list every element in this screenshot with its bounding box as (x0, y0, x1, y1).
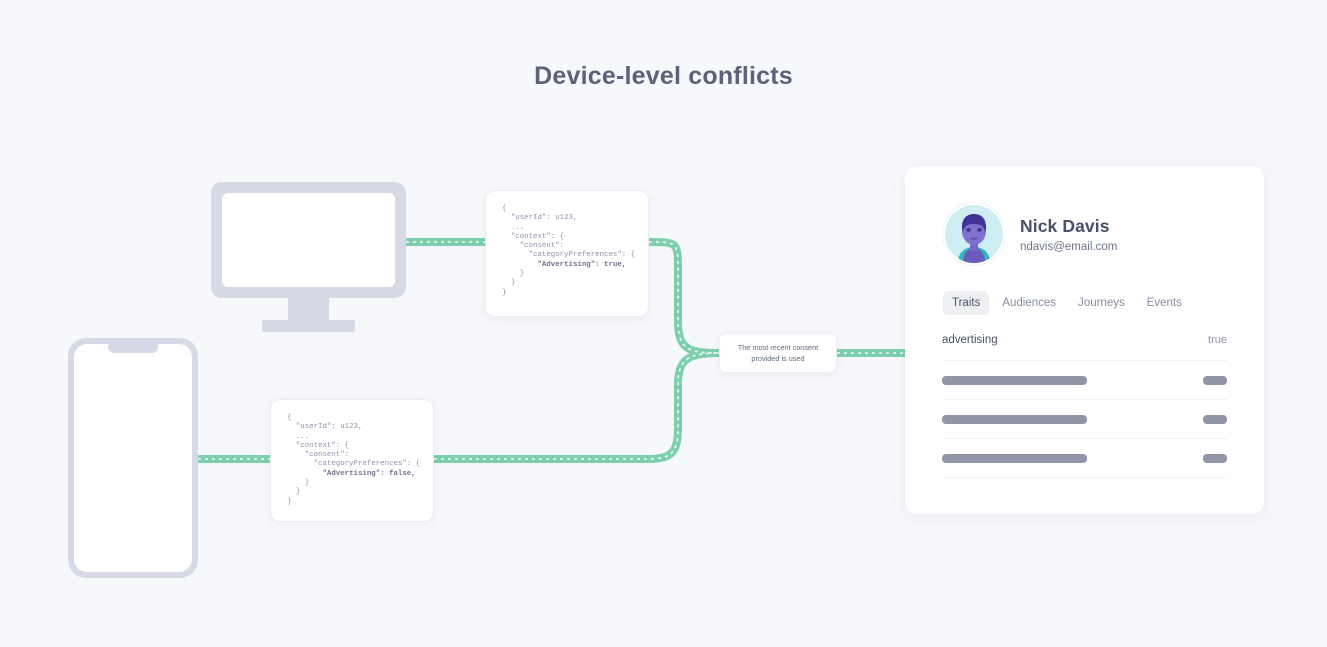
trait-key-placeholder (942, 376, 1087, 385)
code-line-6-highlight: "Advertising": false, (287, 470, 416, 478)
trait-value: true (1208, 334, 1227, 346)
user-avatar-illustration (945, 205, 1003, 263)
phone-notch (108, 344, 158, 353)
center-note-line-2: provided is used (738, 353, 818, 364)
code-line-1: "userId": u123, (287, 423, 362, 431)
desktop-payload-code: { "userId": u123, ... "context": { "cons… (502, 205, 632, 298)
trait-value-placeholder (1203, 454, 1227, 463)
code-line-2: ... (287, 433, 309, 441)
monitor-stand-neck (288, 298, 329, 320)
code-line-0: { (502, 205, 506, 213)
tab-journeys[interactable]: Journeys (1069, 291, 1134, 315)
code-line-9: } (287, 498, 291, 506)
profile-header: Nick Davis ndavis@email.com (943, 203, 1117, 265)
diagram-canvas: Device-level conflicts (0, 0, 1327, 647)
monitor-stand-base (262, 320, 355, 332)
phone-screen (74, 344, 192, 572)
mobile-payload-code: { "userId": u123, ... "context": { "cons… (287, 414, 417, 507)
code-line-0: { (287, 414, 291, 422)
code-line-1: "userId": u123, (502, 214, 577, 222)
table-row (942, 361, 1227, 400)
trait-key-placeholder (942, 454, 1087, 463)
trait-key-placeholder (942, 415, 1087, 424)
monitor-screen (222, 193, 395, 287)
code-line-5: "categoryPreferences": { (502, 251, 635, 259)
code-line-7: } (287, 479, 309, 487)
tab-audiences[interactable]: Audiences (993, 291, 1065, 315)
tab-events[interactable]: Events (1138, 291, 1191, 315)
profile-name: Nick Davis (1020, 216, 1117, 237)
tab-traits[interactable]: Traits (943, 291, 989, 315)
monitor-bezel (211, 182, 406, 298)
table-row: advertising true (942, 334, 1227, 361)
mobile-payload-card: { "userId": u123, ... "context": { "cons… (270, 399, 434, 522)
table-row (942, 439, 1227, 478)
avatar-svg (945, 205, 1003, 263)
wire-payload2-to-junction (434, 353, 719, 459)
center-note-line-1: The most recent consent (738, 342, 818, 353)
code-line-8: } (287, 488, 300, 496)
traits-list: advertising true (942, 334, 1227, 478)
profile-identity: Nick Davis ndavis@email.com (1020, 216, 1117, 253)
desktop-payload-card: { "userId": u123, ... "context": { "cons… (485, 190, 649, 317)
code-line-2: ... (502, 224, 524, 232)
code-line-8: } (502, 279, 515, 287)
trait-key: advertising (942, 334, 998, 346)
code-line-4: "consent": (287, 451, 349, 459)
code-line-9: } (502, 289, 506, 297)
table-row (942, 400, 1227, 439)
profile-tabs: Traits Audiences Journeys Events (943, 291, 1191, 315)
code-line-7: } (502, 270, 524, 278)
trait-value-placeholder (1203, 415, 1227, 424)
code-line-5: "categoryPreferences": { (287, 460, 420, 468)
wire-payload-to-junction (649, 242, 719, 353)
avatar-ring (943, 203, 1005, 265)
phone-icon (68, 338, 198, 578)
monitor-icon (211, 182, 406, 332)
code-line-4: "consent": (502, 242, 564, 250)
code-line-6-highlight: "Advertising": true, (502, 261, 626, 269)
code-line-3: "context": { (502, 233, 564, 241)
profile-email: ndavis@email.com (1020, 241, 1117, 253)
code-line-3: "context": { (287, 442, 349, 450)
profile-card: Nick Davis ndavis@email.com Traits Audie… (905, 166, 1264, 514)
center-note: The most recent consent provided is used (719, 333, 837, 373)
trait-value-placeholder (1203, 376, 1227, 385)
